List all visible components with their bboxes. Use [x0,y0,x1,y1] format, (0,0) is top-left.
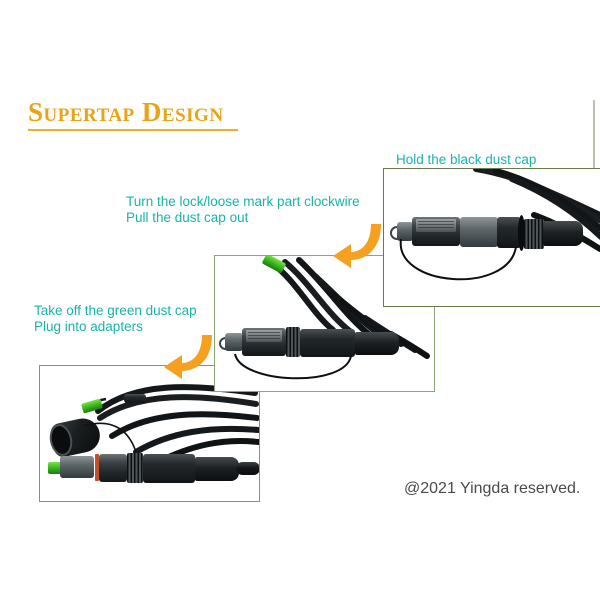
cable-exit-bottom [236,462,260,475]
caption-turn-lock-mark: Turn the lock/loose mark part clockwire … [126,194,360,226]
strain-relief-boot [195,457,239,481]
caption-hold-line1: Hold the black dust cap [396,152,536,168]
step-arrow-1 [329,214,385,270]
step-arrow-2 [160,325,216,381]
caption-hold-black-dust-cap: Hold the black dust cap [396,152,536,168]
caption-take-line1: Take off the green dust cap [34,303,197,319]
connector-threaded-ribs [127,453,143,483]
ferrule-housing [60,456,94,478]
page-title-text: Supertap Design [28,98,238,126]
caption-turn-line1: Turn the lock/loose mark part clockwire [126,194,360,210]
copyright-notice: @2021 Yingda reserved. [404,480,580,498]
panel-connector-with-dust-cap [383,168,600,307]
page-title: Supertap Design [28,98,238,131]
caption-turn-line2: Pull the dust cap out [126,210,360,226]
title-underline [28,129,238,131]
photo-connector-with-dust-cap [384,169,600,306]
slide-canvas: Supertap Design Hold the black dust cap … [0,0,600,600]
connector-barrel-rear [143,454,195,483]
tether-loop-top [384,169,600,306]
connector-barrel-front [99,454,127,482]
right-edge-divider [593,100,595,178]
